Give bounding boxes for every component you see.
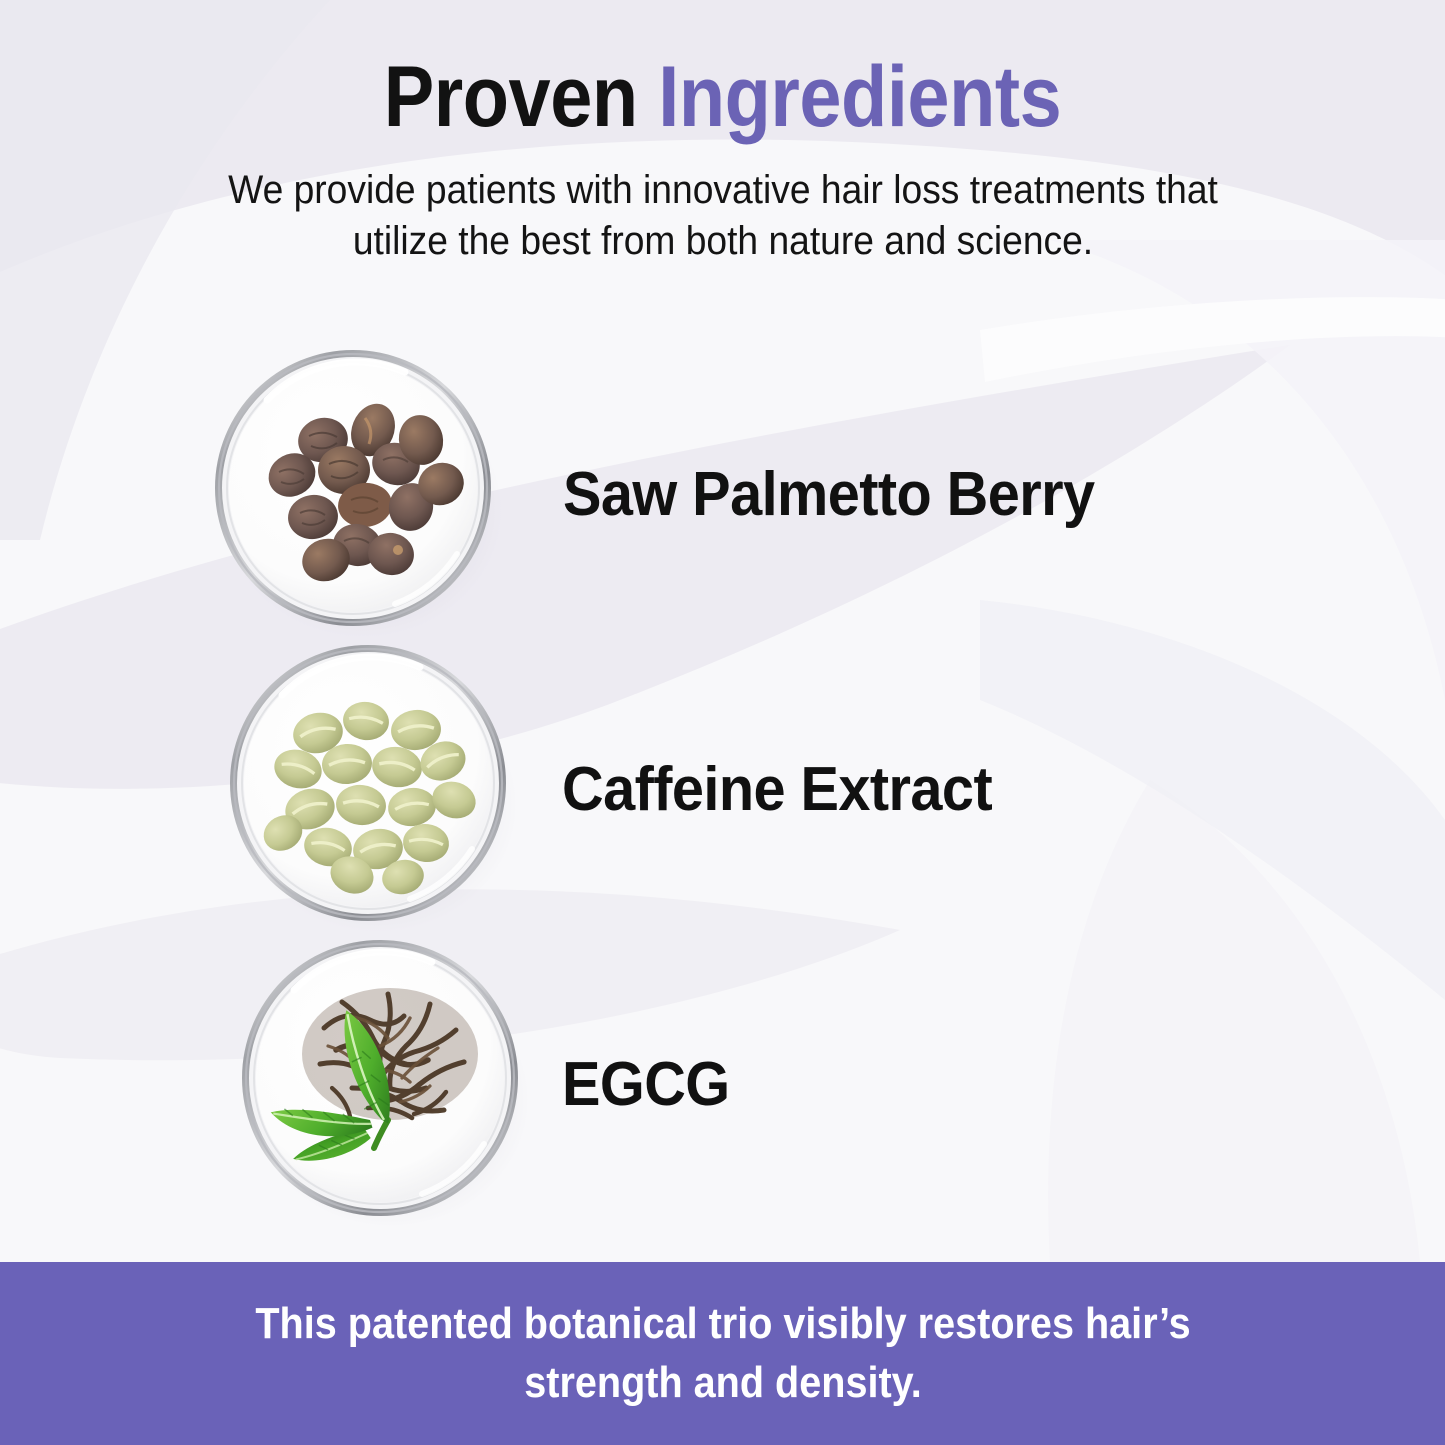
page-title-part-1: Proven [384, 49, 638, 145]
ingredient-name: EGCG [562, 1049, 730, 1120]
footer-banner-text: This patented botanical trio visibly res… [219, 1295, 1227, 1411]
dried-tea-leaves [302, 988, 478, 1120]
ingredient-row: Caffeine Extract [0, 639, 1445, 934]
ingredient-row: Saw Palmetto Berry [0, 344, 1445, 639]
ingredient-list: Saw Palmetto Berry [0, 344, 1445, 1229]
petri-dish-green-tea-icon [232, 932, 532, 1232]
ingredient-name: Saw Palmetto Berry [563, 459, 1095, 530]
header: Proven Ingredients We provide patients w… [0, 52, 1445, 268]
footer-banner: This patented botanical trio visibly res… [0, 1262, 1445, 1445]
petri-dish-green-coffee-beans-icon [220, 637, 520, 937]
ingredient-row: EGCG [0, 934, 1445, 1229]
page-subtitle: We provide patients with innovative hair… [192, 165, 1252, 267]
infographic-canvas: Proven Ingredients We provide patients w… [0, 0, 1445, 1445]
ingredient-name: Caffeine Extract [562, 754, 992, 825]
petri-dish-saw-palmetto-berry-icon [205, 342, 505, 642]
page-title: Proven Ingredients [87, 52, 1359, 143]
page-title-part-2: Ingredients [658, 49, 1061, 145]
